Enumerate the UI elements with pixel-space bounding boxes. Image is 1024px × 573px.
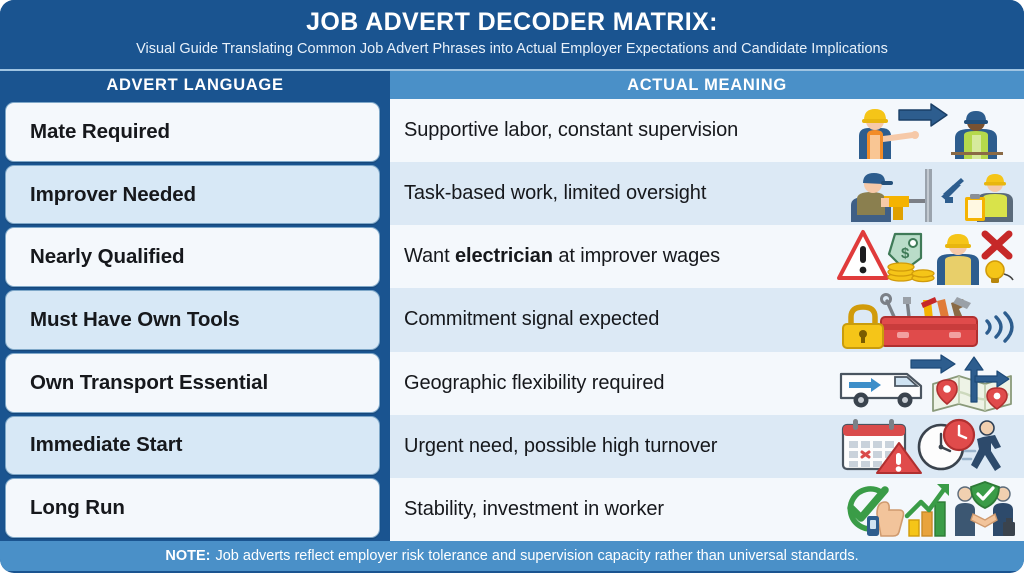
page-title: JOB ADVERT DECODER MATRIX: [14,7,1010,37]
advert-label: Must Have Own Tools [30,308,240,332]
advert-card: Improver Needed [5,165,380,225]
meaning-row: Urgent need, possible high turnover [390,415,1024,478]
svg-text:$: $ [901,245,910,262]
advert-card: Mate Required [5,102,380,162]
supervisor-pointing-at-worker-icon [833,99,1018,162]
advert-label: Nearly Qualified [30,245,184,269]
meaning-row: Want electrician at improver wages $ [390,225,1024,288]
meaning-label: Stability, investment in worker [404,498,833,521]
footer-note-label: NOTE: [165,548,210,564]
advert-label: Mate Required [30,120,170,144]
advert-card: Nearly Qualified [5,227,380,287]
advert-language-column: Mate Required Improver Needed Nearly Qua… [0,99,390,541]
footer-note-text: Job adverts reflect employer risk tolera… [215,548,858,564]
meaning-row: Geographic flexibility required [390,352,1024,415]
advert-label: Improver Needed [30,183,196,207]
meaning-label: Supportive labor, constant supervision [404,119,833,142]
meaning-row: Commitment signal expected [390,288,1024,351]
column-header-row: ADVERT LANGUAGE ACTUAL MEANING [0,71,1024,99]
advert-label: Long Run [30,496,125,520]
warning-price-tag-coins-worker-cross-bulb-icon: $ [833,225,1018,288]
calendar-clock-walking-person-warning-icon [833,415,1018,478]
infographic-frame: JOB ADVERT DECODER MATRIX: Visual Guide … [0,0,1024,573]
page-subtitle: Visual Guide Translating Common Job Adve… [14,39,1010,59]
meaning-row: Stability, investment in worker [390,478,1024,541]
check-thumbsup-growth-chart-handshake-icon [833,478,1018,541]
advert-label: Immediate Start [30,433,182,457]
advert-card: Must Have Own Tools [5,290,380,350]
worker-drilling-with-inspector-icon [833,162,1018,225]
meaning-label: Task-based work, limited oversight [404,182,833,205]
meaning-label: Urgent need, possible high turnover [404,435,833,458]
van-arrows-map-pins-icon [833,352,1018,415]
footer-note: NOTE: Job adverts reflect employer risk … [0,541,1024,571]
title-block: JOB ADVERT DECODER MATRIX: Visual Guide … [0,0,1024,65]
padlock-and-toolbox-icon [833,288,1018,351]
advert-card: Immediate Start [5,416,380,476]
meaning-label: Want electrician at improver wages [404,245,833,268]
column-header-advert-language: ADVERT LANGUAGE [0,71,390,99]
column-header-actual-meaning: ACTUAL MEANING [390,71,1024,99]
advert-label: Own Transport Essential [30,371,268,395]
matrix-body: Mate Required Improver Needed Nearly Qua… [0,99,1024,541]
meaning-row: Task-based work, limited oversight [390,162,1024,225]
advert-card: Long Run [5,478,380,538]
meaning-label: Commitment signal expected [404,308,833,331]
advert-card: Own Transport Essential [5,353,380,413]
meaning-row: Supportive labor, constant supervision [390,99,1024,162]
actual-meaning-column: Supportive labor, constant supervision [390,99,1024,541]
meaning-label: Geographic flexibility required [404,372,833,395]
